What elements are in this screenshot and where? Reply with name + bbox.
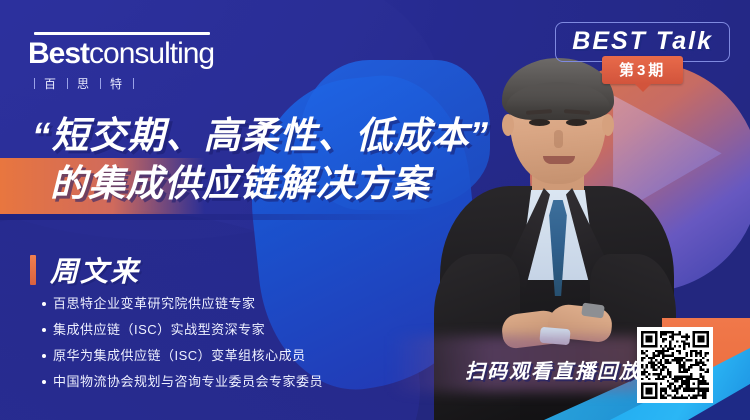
decor-dark-band <box>0 214 430 220</box>
portrait-mouth <box>543 156 575 164</box>
portrait-nose <box>554 130 563 148</box>
portrait-ear-left <box>502 114 514 136</box>
list-item: 集成供应链（ISC）实战型资深专家 <box>42 322 323 337</box>
bullet-dot-icon <box>42 328 46 332</box>
webinar-poster: Bestconsulting 百 思 特 BEST Talk 第3期 “短交期、… <box>0 0 750 420</box>
bullet-dot-icon <box>42 380 46 384</box>
portrait-ear-right <box>602 114 614 136</box>
bullet-dot-icon <box>42 354 46 358</box>
logo-divider-icon <box>100 78 101 89</box>
brand-logo: Bestconsulting 百 思 特 <box>28 32 218 92</box>
logo-word-consulting: consulting <box>89 37 214 70</box>
headline-line-2: 的集成供应链解决方案 <box>50 160 502 208</box>
logo-rule <box>34 32 210 35</box>
logo-cn-3: 特 <box>110 75 124 92</box>
logo-word-best: Best <box>28 37 89 70</box>
speaker-block: 周文来 <box>30 250 140 290</box>
episode-ribbon: 第3期 <box>602 56 683 84</box>
headline-line-1: “短交期、高柔性、低成本” <box>32 112 502 160</box>
list-item: 中国物流协会规划与咨询专业委员会专家委员 <box>42 374 323 389</box>
credential-text: 百思特企业变革研究院供应链专家 <box>53 296 256 311</box>
logo-cn-1: 百 <box>44 75 58 92</box>
speaker-credentials: 百思特企业变革研究院供应链专家 集成供应链（ISC）实战型资深专家 原华为集成供… <box>42 296 323 400</box>
list-item: 百思特企业变革研究院供应链专家 <box>42 296 323 311</box>
qr-code-canvas[interactable] <box>641 331 709 399</box>
page-title: “短交期、高柔性、低成本” 的集成供应链解决方案 <box>32 112 502 208</box>
speaker-accent-bar <box>30 255 36 285</box>
logo-divider-icon <box>67 78 68 89</box>
series-badge: BEST Talk 第3期 <box>555 22 730 84</box>
qr-code[interactable] <box>637 327 713 403</box>
credential-text: 原华为集成供应链（ISC）变革组核心成员 <box>53 348 306 363</box>
credential-text: 中国物流协会规划与咨询专业委员会专家委员 <box>53 374 323 389</box>
credential-text: 集成供应链（ISC）实战型资深专家 <box>53 322 265 337</box>
logo-divider-icon <box>34 78 35 89</box>
portrait-eye-right <box>566 119 587 126</box>
logo-divider-icon <box>133 78 134 89</box>
logo-chinese-name: 百 思 特 <box>34 75 218 92</box>
speaker-name: 周文来 <box>50 250 140 290</box>
list-item: 原华为集成供应链（ISC）变革组核心成员 <box>42 348 323 363</box>
logo-wordmark: Bestconsulting <box>28 37 218 71</box>
series-badge-title: BEST Talk <box>572 28 713 55</box>
bullet-dot-icon <box>42 302 46 306</box>
portrait-eye-left <box>529 119 550 126</box>
scan-cta-caption: 扫码观看直播回放 <box>465 355 641 384</box>
logo-cn-2: 思 <box>77 75 91 92</box>
